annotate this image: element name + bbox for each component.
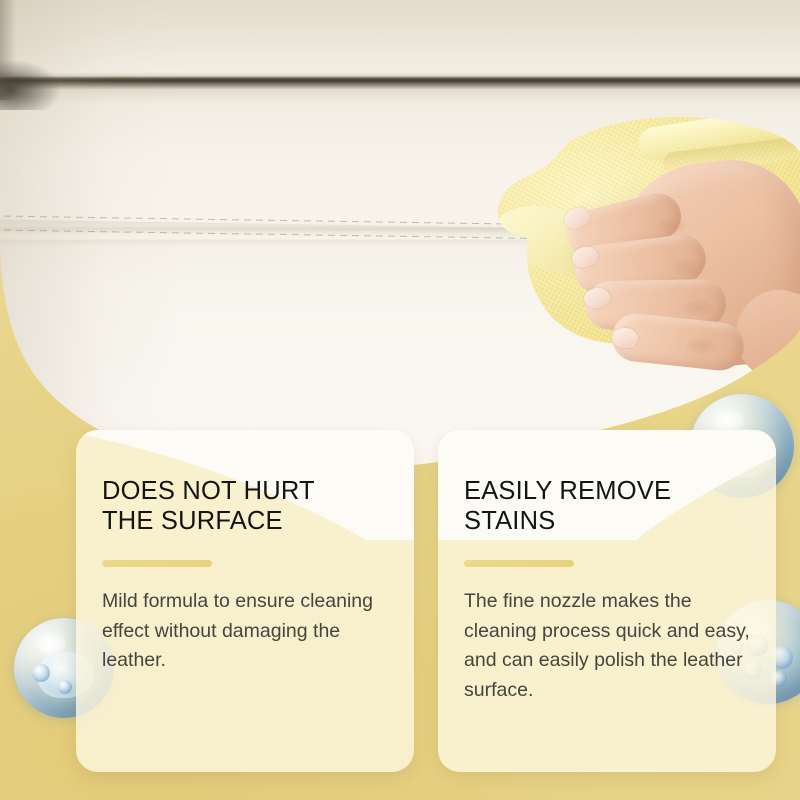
card-title: DOES NOT HURT THE SURFACE <box>102 476 388 536</box>
card-description: The fine nozzle makes the cleaning proce… <box>464 587 750 706</box>
bubble-highlight <box>36 632 66 654</box>
card-accent-bar <box>464 560 574 567</box>
product-feature-poster: DOES NOT HURT THE SURFACE Mild formula t… <box>0 0 800 800</box>
knuckle-4 <box>686 338 716 354</box>
knuckle-1 <box>656 218 686 234</box>
card-title: EASILY REMOVE STAINS <box>464 476 750 536</box>
sofa-dark-corner <box>0 60 60 110</box>
hand-illustration <box>560 140 800 375</box>
bubble-mini-2 <box>58 680 72 694</box>
card-accent-bar <box>102 560 212 567</box>
bubble-highlight <box>713 409 744 432</box>
card-content: DOES NOT HURT THE SURFACE Mild formula t… <box>76 430 414 676</box>
feature-card-does-not-hurt-surface: DOES NOT HURT THE SURFACE Mild formula t… <box>76 430 414 772</box>
knuckle-2 <box>672 260 702 276</box>
knuckle-3 <box>684 300 714 316</box>
card-content: EASILY REMOVE STAINS The fine nozzle mak… <box>438 430 776 706</box>
feature-card-list: DOES NOT HURT THE SURFACE Mild formula t… <box>76 430 776 772</box>
bubble-mini-1 <box>32 664 50 682</box>
feature-card-easily-remove-stains: EASILY REMOVE STAINS The fine nozzle mak… <box>438 430 776 772</box>
card-description: Mild formula to ensure cleaning effect w… <box>102 587 388 676</box>
